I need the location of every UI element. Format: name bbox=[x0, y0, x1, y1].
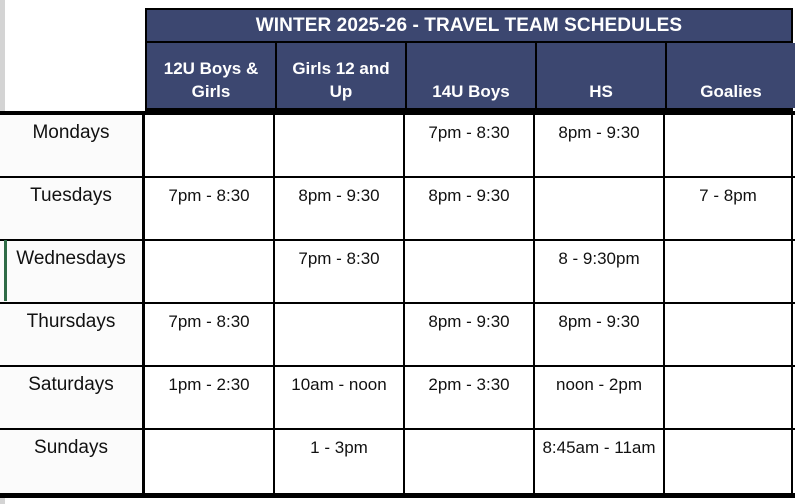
schedule-sheet: WINTER 2025-26 - TRAVEL TEAM SCHEDULES 1… bbox=[0, 0, 800, 504]
time-slot: 7 - 8pm bbox=[699, 186, 757, 205]
day-label: Wednesdays bbox=[16, 248, 126, 269]
column-header-row: 12U Boys & Girls Girls 12 and Up 14U Boy… bbox=[145, 43, 793, 111]
time-slot: 8pm - 9:30 bbox=[298, 186, 379, 205]
column-header-hs[interactable]: HS bbox=[537, 43, 667, 108]
day-label-cell[interactable]: Wednesdays bbox=[0, 241, 145, 302]
column-header-label: Girls 12 and Up bbox=[280, 58, 402, 103]
schedule-cell[interactable]: 7pm - 8:30 bbox=[405, 115, 535, 176]
schedule-cell[interactable]: 10am - noon bbox=[275, 367, 405, 428]
schedule-cell[interactable] bbox=[405, 430, 535, 493]
table-row: Sundays 1 - 3pm 8:45am - 11am bbox=[0, 430, 795, 493]
schedule-cell[interactable]: 1pm - 2:30 bbox=[145, 367, 275, 428]
schedule-cell[interactable] bbox=[535, 178, 665, 239]
column-header-14u-boys[interactable]: 14U Boys bbox=[407, 43, 537, 108]
time-slot: 2pm - 3:30 bbox=[428, 375, 509, 394]
schedule-cell[interactable] bbox=[665, 367, 793, 428]
column-header-label: HS bbox=[589, 81, 613, 103]
schedule-cell[interactable]: noon - 2pm bbox=[535, 367, 665, 428]
time-slot: 7pm - 8:30 bbox=[168, 312, 249, 331]
time-slot: 8:45am - 11am bbox=[542, 438, 655, 457]
column-header-label: 12U Boys & Girls bbox=[150, 58, 272, 103]
table-row: Saturdays 1pm - 2:30 10am - noon 2pm - 3… bbox=[0, 367, 795, 430]
schedule-cell[interactable] bbox=[275, 115, 405, 176]
schedule-cell[interactable]: 2pm - 3:30 bbox=[405, 367, 535, 428]
schedule-title-banner: WINTER 2025-26 - TRAVEL TEAM SCHEDULES bbox=[145, 8, 793, 43]
day-label: Saturdays bbox=[28, 374, 114, 395]
schedule-cell[interactable]: 1 - 3pm bbox=[275, 430, 405, 493]
schedule-cell[interactable] bbox=[405, 241, 535, 302]
time-slot: 1 - 3pm bbox=[310, 438, 368, 457]
time-slot: 8pm - 9:30 bbox=[558, 312, 639, 331]
page-title: WINTER 2025-26 - TRAVEL TEAM SCHEDULES bbox=[256, 15, 682, 37]
table-row: Thursdays 7pm - 8:30 8pm - 9:30 8pm - 9:… bbox=[0, 304, 795, 367]
time-slot: noon - 2pm bbox=[556, 375, 642, 394]
schedule-cell[interactable] bbox=[275, 304, 405, 365]
table-row: Wednesdays 7pm - 8:30 8 - 9:30pm bbox=[0, 241, 795, 304]
schedule-cell[interactable]: 7pm - 8:30 bbox=[275, 241, 405, 302]
time-slot: 8pm - 9:30 bbox=[558, 123, 639, 142]
day-label: Tuesdays bbox=[30, 185, 112, 206]
schedule-cell[interactable] bbox=[145, 430, 275, 493]
time-slot: 7pm - 8:30 bbox=[168, 186, 249, 205]
day-label-cell[interactable]: Sundays bbox=[0, 430, 145, 493]
schedule-cell[interactable]: 8pm - 9:30 bbox=[535, 115, 665, 176]
time-slot: 7pm - 8:30 bbox=[298, 249, 379, 268]
day-label-cell[interactable]: Thursdays bbox=[0, 304, 145, 365]
time-slot: 8pm - 9:30 bbox=[428, 312, 509, 331]
day-label-cell[interactable]: Mondays bbox=[0, 115, 145, 176]
schedule-cell[interactable] bbox=[665, 430, 793, 493]
schedule-cell[interactable]: 8pm - 9:30 bbox=[535, 304, 665, 365]
time-slot: 7pm - 8:30 bbox=[428, 123, 509, 142]
day-label-cell[interactable]: Saturdays bbox=[0, 367, 145, 428]
column-header-12u-boys-girls[interactable]: 12U Boys & Girls bbox=[147, 43, 277, 108]
schedule-cell[interactable] bbox=[145, 241, 275, 302]
schedule-cell[interactable]: 8pm - 9:30 bbox=[405, 178, 535, 239]
schedule-cell[interactable]: 8pm - 9:30 bbox=[275, 178, 405, 239]
schedule-cell[interactable] bbox=[665, 304, 793, 365]
time-slot: 10am - noon bbox=[291, 375, 386, 394]
day-label: Mondays bbox=[32, 122, 109, 143]
day-label-cell[interactable]: Tuesdays bbox=[0, 178, 145, 239]
table-row: Tuesdays 7pm - 8:30 8pm - 9:30 8pm - 9:3… bbox=[0, 178, 795, 241]
time-slot: 8pm - 9:30 bbox=[428, 186, 509, 205]
time-slot: 1pm - 2:30 bbox=[168, 375, 249, 394]
schedule-cell[interactable] bbox=[665, 241, 793, 302]
schedule-cell[interactable]: 7pm - 8:30 bbox=[145, 304, 275, 365]
time-slot: 8 - 9:30pm bbox=[558, 249, 639, 268]
schedule-cell[interactable]: 8pm - 9:30 bbox=[405, 304, 535, 365]
column-header-goalies[interactable]: Goalies bbox=[667, 43, 795, 108]
day-label: Sundays bbox=[34, 437, 108, 458]
schedule-cell[interactable]: 7 - 8pm bbox=[665, 178, 793, 239]
schedule-grid: Mondays 7pm - 8:30 8pm - 9:30 Tuesdays 7… bbox=[0, 111, 795, 498]
schedule-cell[interactable]: 8 - 9:30pm bbox=[535, 241, 665, 302]
day-label: Thursdays bbox=[27, 311, 116, 332]
schedule-cell[interactable]: 7pm - 8:30 bbox=[145, 178, 275, 239]
column-header-label: Goalies bbox=[700, 81, 761, 103]
schedule-cell[interactable] bbox=[665, 115, 793, 176]
table-row: Mondays 7pm - 8:30 8pm - 9:30 bbox=[0, 115, 795, 178]
column-header-label: 14U Boys bbox=[432, 81, 509, 103]
row-selection-marker bbox=[4, 240, 7, 301]
schedule-cell[interactable]: 8:45am - 11am bbox=[535, 430, 665, 493]
column-header-girls-12-and-up[interactable]: Girls 12 and Up bbox=[277, 43, 407, 108]
schedule-cell[interactable] bbox=[145, 115, 275, 176]
